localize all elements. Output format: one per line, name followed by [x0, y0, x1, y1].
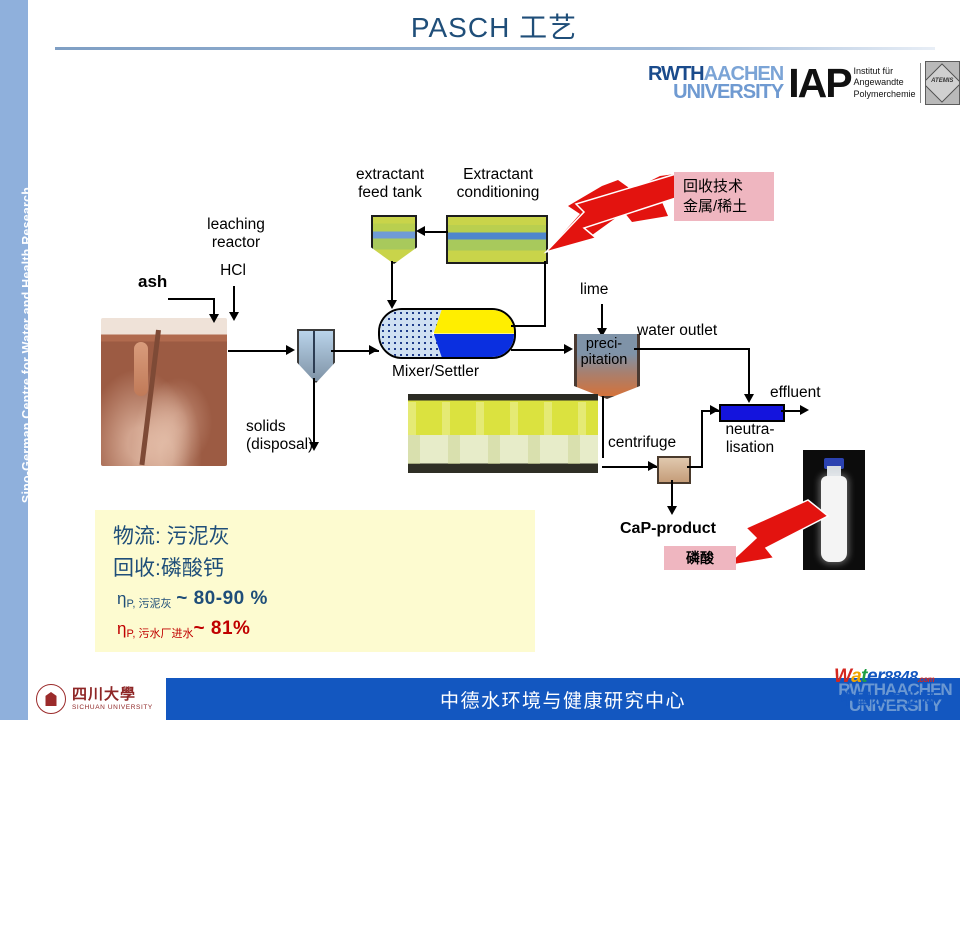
- label-lime: lime: [580, 281, 608, 299]
- rwth-wordmark: RWTHAACHEN UNIVERSITY: [648, 65, 783, 102]
- flow-line-organic-out: [511, 325, 546, 327]
- label-neutralisation: neutra- lisation: [713, 421, 787, 457]
- legend-value-2: ~ 81%: [194, 618, 251, 639]
- label-mixer-settler: Mixer/Settler: [392, 363, 479, 381]
- label-cap-product: CaP-product: [620, 520, 716, 538]
- atemis-label: ATEMIS: [926, 78, 959, 84]
- flow-arrow-cent-to-neutra: [710, 405, 719, 415]
- iap-wordmark: IAP: [788, 67, 850, 100]
- neutralisation-unit: [719, 404, 785, 422]
- legend-line-2: 回收:磷酸钙: [113, 552, 224, 582]
- flow-arrow-funnel-to-mixer: [369, 345, 378, 355]
- extractant-feed-tank-unit: [371, 215, 417, 264]
- flow-line-organic-up: [544, 261, 546, 327]
- legend-efficiency-row-1: ηP, 污泥灰 ~ 80-90 %: [117, 588, 268, 611]
- label-ash: ash: [138, 272, 167, 292]
- hydrocyclone-center-line: [313, 331, 315, 373]
- sichuan-university-logo: 四川大學 SICHUAN UNIVERSITY: [36, 681, 166, 717]
- callout-recovery-tech: 回收技术 金属/稀土: [674, 172, 774, 221]
- label-leaching-reactor: leaching reactor: [186, 216, 286, 252]
- flow-line-water-outlet-down: [748, 348, 750, 396]
- legend-value-1: ~ 80-90 %: [176, 588, 268, 609]
- sichuan-seal-icon: [36, 684, 66, 714]
- flow-line-reactor-to-funnel: [228, 350, 290, 352]
- flow-arrow-effluent: [800, 405, 809, 415]
- institute-line-2: Angewandte: [854, 77, 916, 88]
- flow-line-ash: [168, 298, 215, 300]
- flow-arrow-ash: [209, 314, 219, 323]
- sichuan-name-cn: 四川大學: [72, 687, 153, 702]
- label-water-outlet: water outlet: [637, 322, 717, 340]
- flow-line-water-outlet: [634, 348, 750, 350]
- flow-line-hcl: [233, 286, 235, 314]
- label-extractant-conditioning: Extractant conditioning: [443, 166, 553, 202]
- page-title: PASCH 工艺: [28, 6, 960, 46]
- flow-arrow-to-centrifuge: [648, 461, 657, 471]
- centrifuge-unit: [657, 456, 691, 484]
- settler-organic-phase: [434, 310, 514, 334]
- flow-line-cond-to-feedtank: [424, 231, 448, 233]
- atemis-logo-icon: ATEMIS: [925, 61, 960, 105]
- flow-line-aqueous-out: [511, 349, 568, 351]
- label-precipitation: preci- pitation: [572, 336, 636, 368]
- legend-efficiency-row-2: ηP, 污水厂进水~ 81%: [117, 618, 250, 641]
- flow-line-solids: [313, 378, 315, 444]
- flow-arrow-cond-to-feedtank: [416, 226, 425, 236]
- legend-subscript-1: P, 污泥灰: [126, 598, 171, 610]
- institute-line-1: Institut für: [854, 66, 916, 77]
- flow-line-precip-down: [602, 396, 604, 458]
- callout-phosphoric-acid: 磷酸: [664, 546, 736, 570]
- slide-root: Sino-German Centre for Water and Health …: [0, 0, 960, 720]
- institute-line-3: Polymerchemie: [854, 89, 916, 100]
- centrifuge-photo: [408, 394, 598, 473]
- label-hcl: HCl: [203, 262, 263, 280]
- flow-line-cent-up: [701, 411, 703, 468]
- legend-line-1: 物流: 污泥灰: [113, 520, 230, 550]
- extractant-conditioning-unit: [446, 215, 548, 264]
- flow-arrow-water-outlet: [744, 394, 754, 403]
- label-centrifuge: centrifuge: [608, 434, 676, 452]
- sidebar: Sino-German Centre for Water and Health …: [0, 0, 28, 720]
- flow-line-cap-down: [671, 480, 673, 508]
- flow-arrow-hcl: [229, 312, 239, 321]
- legend-subscript-2: P, 污水厂进水: [126, 628, 193, 640]
- institute-name: Institut für Angewandte Polymerchemie: [854, 63, 921, 103]
- rwth-line-2: UNIVERSITY: [673, 83, 783, 101]
- sichuan-name-en: SICHUAN UNIVERSITY: [72, 705, 153, 712]
- title-divider: [55, 47, 935, 50]
- flow-line-lime: [601, 304, 603, 330]
- red-arrow-bottom-icon: [722, 498, 832, 576]
- legend-box: 物流: 污泥灰 回收:磷酸钙 ηP, 污泥灰 ~ 80-90 % ηP, 污水厂…: [95, 510, 535, 652]
- rwth-iap-logo: RWTHAACHEN UNIVERSITY IAP Institut für A…: [648, 57, 960, 109]
- footer-center-name: 中德水环境与健康研究中心: [166, 678, 960, 720]
- mixer-settler-unit: [378, 308, 516, 359]
- leaching-reactor-photo: [101, 318, 227, 466]
- label-effluent: effluent: [770, 384, 821, 402]
- sichuan-wordmark: 四川大學 SICHUAN UNIVERSITY: [72, 687, 153, 712]
- hydrocyclone-unit: [297, 329, 335, 383]
- label-extractant-feed-tank: extractant feed tank: [335, 166, 445, 202]
- flow-arrow-reactor-to-funnel: [286, 345, 295, 355]
- label-solids: solids (disposal): [246, 418, 313, 454]
- settler-aqueous-phase: [434, 334, 514, 358]
- flow-arrow-cap-down: [667, 506, 677, 515]
- sidebar-vertical-title: Sino-German Centre for Water and Health …: [13, 25, 41, 665]
- flow-line-feedtank-down: [391, 261, 393, 305]
